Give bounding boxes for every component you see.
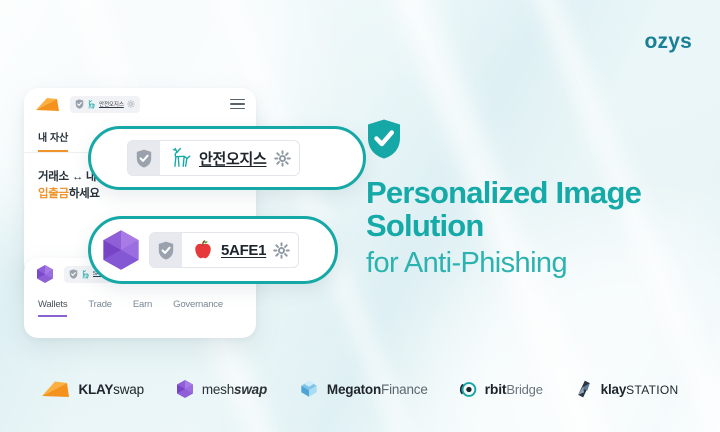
chip-content: 5AFE1 [182, 239, 298, 261]
partner-name-light: Finance [381, 382, 428, 397]
deer-icon [170, 147, 192, 169]
partner-klaystation[interactable]: klaySTATION [574, 379, 679, 399]
meshswap-navbar: Wallets Trade Earn Governance [24, 290, 256, 317]
partner-name-light: mesh [202, 382, 234, 397]
nav-item-earn[interactable]: Earn [133, 299, 152, 315]
nav-item-trade[interactable]: Trade [88, 299, 111, 315]
partner-logo-strip: KLAYswap meshswap MegatonFinance [0, 372, 720, 406]
partner-klaystation-label: klaySTATION [601, 382, 679, 397]
address-bar-site-name: 안전오지스 [99, 100, 124, 108]
personalized-image-label: 안전오지스 [199, 148, 267, 169]
klayswap-triangle-icon [41, 380, 71, 398]
partner-meshswap[interactable]: meshswap [175, 379, 267, 399]
callout-anti-phishing-image-2: 5AFE1 [88, 216, 338, 284]
shield-check-icon [366, 118, 402, 160]
partner-name-light: Bridge [506, 382, 542, 397]
klaystation-icon [574, 379, 594, 399]
ozys-logo: ozys [645, 30, 693, 54]
tab-my-assets[interactable]: 내 자산 [38, 129, 68, 152]
partner-name-light: STATION [626, 383, 678, 397]
klayswap-triangle-icon [35, 97, 61, 112]
shield-icon [69, 269, 78, 279]
megaton-icon [298, 378, 320, 400]
callout-anti-phishing-image-1: 안전오지스 [88, 126, 366, 190]
partner-orbit-label: rbitBridge [485, 381, 543, 397]
hero-block: Personalized Image Solution for Anti-Phi… [366, 118, 696, 280]
hero-title: Personalized Image Solution [366, 176, 696, 243]
partner-name-bold: swap [234, 382, 267, 397]
hamburger-icon[interactable] [230, 99, 245, 110]
meshswap-hexagon-icon [175, 379, 195, 399]
personalized-image-label: 5AFE1 [221, 242, 266, 259]
partner-megaton-label: MegatonFinance [327, 382, 428, 397]
headline-highlight: 입출금 [38, 188, 69, 200]
shield-icon [75, 99, 84, 109]
orbit-icon [459, 380, 478, 399]
address-bar-chip[interactable]: 5AFE1 [149, 232, 299, 268]
partner-klayswap-label: KLAYswap [78, 382, 143, 397]
shield-check-glyph [158, 241, 174, 260]
nav-item-governance[interactable]: Governance [173, 299, 223, 315]
klayswap-topbar: 안전오지스 [24, 88, 256, 120]
headline-prefix: 거래소 [38, 171, 72, 183]
chip-content: 안전오지스 [160, 147, 299, 169]
partner-klayswap[interactable]: KLAYswap [41, 380, 143, 398]
partner-name-bold: KLAY [78, 382, 113, 397]
browser-address-bar[interactable]: 안전오지스 [70, 96, 140, 113]
apple-icon [192, 239, 214, 261]
nav-item-wallets[interactable]: Wallets [38, 299, 67, 317]
partner-name-bold: rbit [485, 381, 507, 397]
swap-arrow-icon: ↔ [72, 171, 83, 183]
meshswap-hexagon-icon [99, 228, 143, 272]
partner-orbit-bridge[interactable]: rbitBridge [459, 380, 543, 399]
partner-name-light: swap [113, 382, 144, 397]
address-bar-chip[interactable]: 안전오지스 [127, 140, 300, 176]
gear-icon[interactable] [127, 100, 135, 108]
partner-name-bold: klay [601, 382, 626, 397]
partner-megaton[interactable]: MegatonFinance [298, 378, 428, 400]
shield-check-glyph [136, 149, 152, 168]
partner-name-bold: Megaton [327, 382, 381, 397]
hero-subtitle: for Anti-Phishing [366, 248, 696, 280]
gear-icon[interactable] [274, 150, 291, 167]
shield-check-icon [128, 141, 160, 175]
deer-icon [87, 100, 96, 109]
deer-icon [81, 270, 90, 279]
promo-banner: ozys Personalized Image Solution for Ant… [0, 0, 720, 432]
partner-meshswap-label: meshswap [202, 382, 267, 397]
meshswap-hexagon-icon [35, 264, 55, 284]
shield-check-icon [150, 233, 182, 267]
gear-icon[interactable] [273, 242, 290, 259]
headline-rest: 하세요 [69, 188, 100, 200]
